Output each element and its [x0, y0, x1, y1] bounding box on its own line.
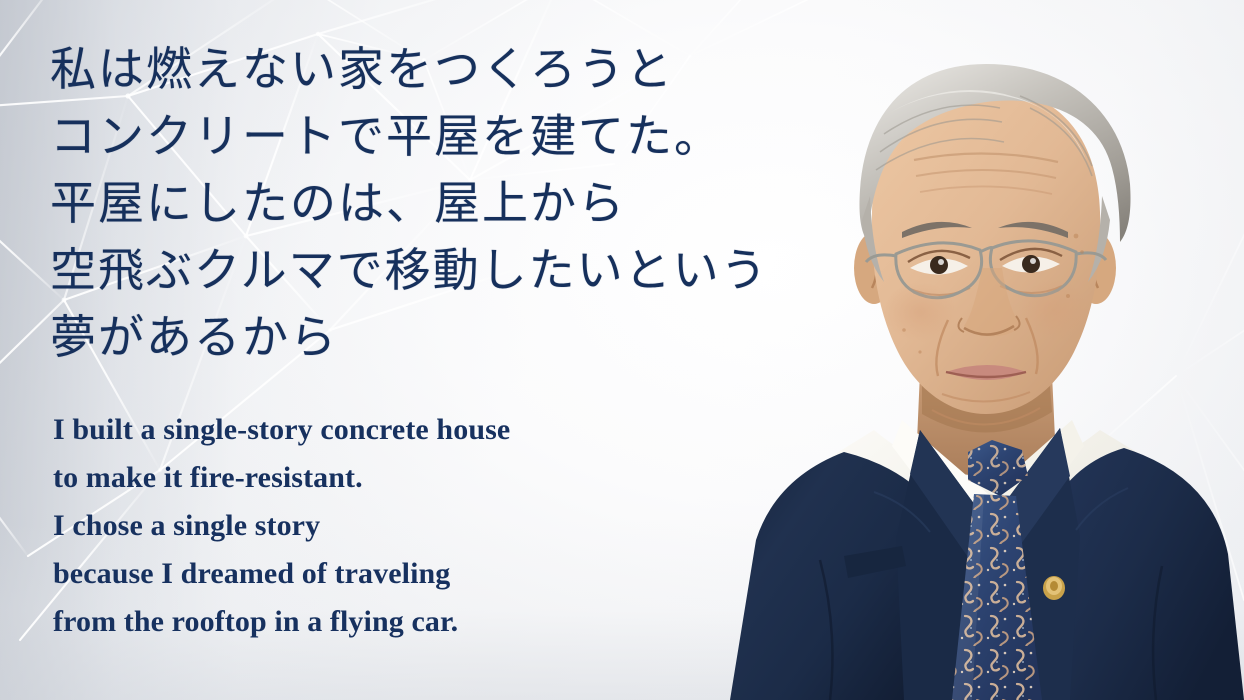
english-quote-line-2: to make it fire-resistant. [53, 454, 753, 502]
japanese-quote-block: 私は燃えない家をつくろうと コンクリートで平屋を建てた。 平屋にしたのは、屋上か… [50, 36, 810, 371]
english-quote-line-1: I built a single-story concrete house [53, 406, 753, 454]
japanese-quote-line-1: 私は燃えない家をつくろうと [50, 36, 810, 103]
japanese-quote-line-5: 夢があるから [50, 304, 810, 371]
portrait-photo [724, 0, 1244, 700]
lapel-pin-icon [1043, 576, 1065, 600]
japanese-quote-line-2: コンクリートで平屋を建てた。 [50, 103, 810, 170]
quote-banner: 私は燃えない家をつくろうと コンクリートで平屋を建てた。 平屋にしたのは、屋上か… [0, 0, 1244, 700]
english-quote-line-4: because I dreamed of traveling [53, 550, 753, 598]
japanese-quote-line-3: 平屋にしたのは、屋上から [50, 170, 810, 237]
english-quote-line-3: I chose a single story [53, 502, 753, 550]
english-quote-line-5: from the rooftop in a flying car. [53, 598, 753, 646]
english-quote-block: I built a single-story concrete house to… [53, 406, 753, 646]
japanese-quote-line-4: 空飛ぶクルマで移動したいという [50, 237, 810, 304]
